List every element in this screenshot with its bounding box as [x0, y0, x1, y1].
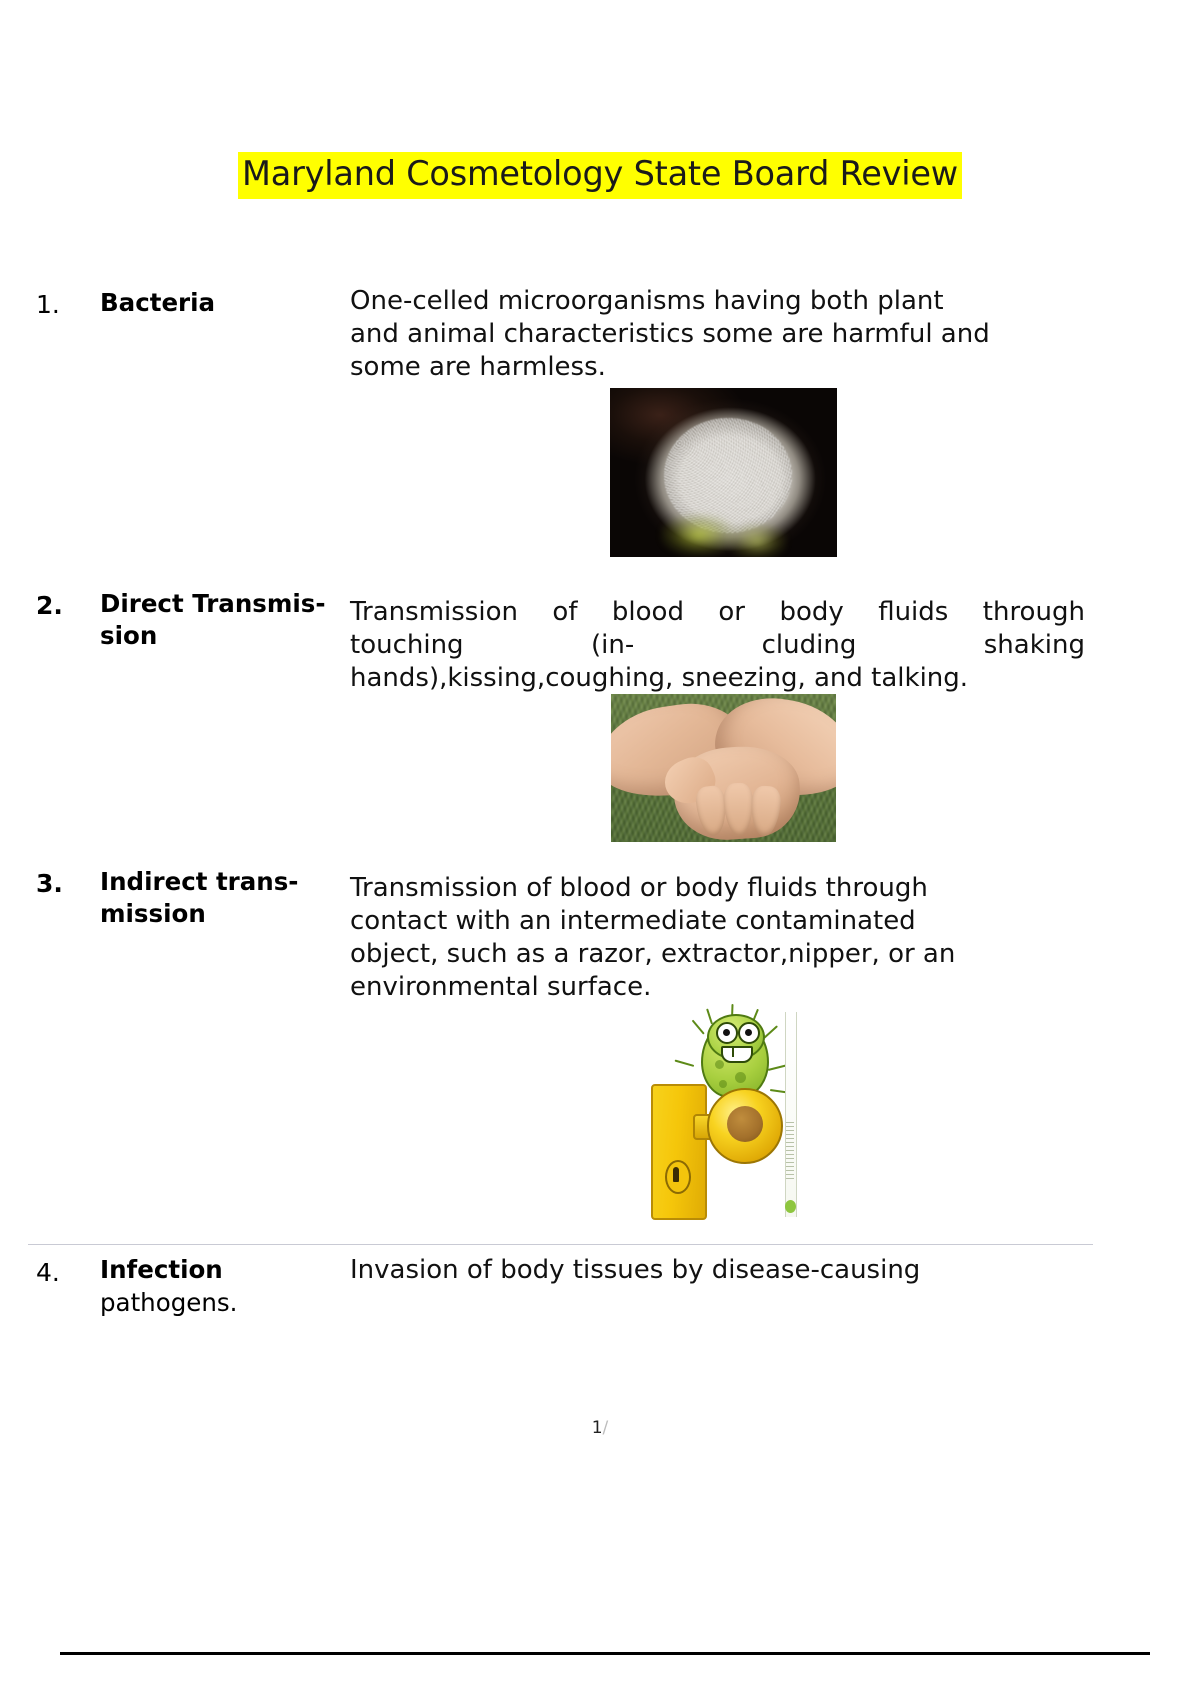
- keyhole-icon: [665, 1160, 691, 1194]
- word: cluding: [762, 629, 857, 662]
- page-footer: 1/: [0, 1418, 1200, 1438]
- entry-number-4: 4.: [36, 1257, 60, 1289]
- word: or: [718, 596, 745, 629]
- bacteria-colony-photo: [610, 388, 837, 557]
- photo-highlight: [660, 513, 737, 557]
- word: fluids: [878, 596, 948, 629]
- handshake-photo: [611, 694, 836, 842]
- entry-term-line: mission: [100, 898, 350, 930]
- definition-line-justified: touching (in- cluding shaking: [350, 629, 1085, 662]
- germ-spot: [719, 1080, 727, 1088]
- germ-eye-right: [738, 1022, 760, 1044]
- word: body: [779, 596, 843, 629]
- definition-line: some are harmless.: [350, 351, 1085, 384]
- bottom-rule: [60, 1652, 1150, 1655]
- door-plate: [651, 1084, 707, 1220]
- germ-cilium: [706, 1008, 713, 1024]
- germ-mouth: [721, 1046, 753, 1063]
- definition-line-justified: Transmission of blood or body fluids thr…: [350, 596, 1085, 629]
- germ-cilium: [674, 1060, 694, 1067]
- definition-line: and animal characteristics some are harm…: [350, 318, 1085, 351]
- definition-line: contact with an intermediate contaminate…: [350, 905, 1085, 938]
- page-separator: /: [603, 1418, 609, 1438]
- definition-line: hands),kissing,coughing, sneezing, and t…: [350, 662, 1085, 695]
- entry-definition-3: Transmission of blood or body fluids thr…: [350, 872, 1085, 1004]
- definition-line: Invasion of body tissues by disease-caus…: [350, 1254, 1085, 1287]
- word: blood: [612, 596, 684, 629]
- entry-term-2: Direct Transmis- sion: [100, 588, 350, 652]
- germ-spot: [715, 1060, 724, 1069]
- word: touching: [350, 629, 464, 662]
- doorknob-center: [727, 1106, 763, 1142]
- image-side-ticks: [786, 1122, 794, 1182]
- entry-number-2: 2.: [36, 590, 63, 622]
- word: Transmission: [350, 596, 518, 629]
- word: through: [983, 596, 1085, 629]
- entry-definition-2: Transmission of blood or body fluids thr…: [350, 596, 1085, 695]
- entry-number-1: 1.: [36, 289, 60, 321]
- entry-term-4-continuation: pathogens.: [100, 1287, 350, 1319]
- germ-cilium: [763, 1025, 778, 1039]
- germ-spot: [735, 1072, 746, 1083]
- entry-term-1: Bacteria: [100, 287, 350, 319]
- entry-definition-4: Invasion of body tissues by disease-caus…: [350, 1254, 1085, 1287]
- entry-term-4: Infection: [100, 1254, 350, 1286]
- entry-term-line: sion: [100, 620, 350, 652]
- definition-line: One-celled microorganisms having both pl…: [350, 285, 1085, 318]
- definition-line: environmental surface.: [350, 971, 1085, 1004]
- germ-eye-left: [716, 1022, 738, 1044]
- word: shaking: [984, 629, 1085, 662]
- entry-term-3: Indirect trans- mission: [100, 866, 350, 930]
- row-divider: [28, 1244, 1093, 1245]
- entry-term-line: Direct Transmis-: [100, 588, 350, 620]
- entry-term-line: Indirect trans-: [100, 866, 350, 898]
- definition-line: object, such as a razor, extractor,nippe…: [350, 938, 1085, 971]
- definition-line: Transmission of blood or body fluids thr…: [350, 872, 1085, 905]
- page-title: Maryland Cosmetology State Board Review: [0, 152, 1200, 199]
- entry-number-3: 3.: [36, 868, 63, 900]
- word: of: [552, 596, 577, 629]
- word: (in-: [591, 629, 634, 662]
- image-side-dot: [785, 1200, 796, 1213]
- page-title-text: Maryland Cosmetology State Board Review: [238, 152, 962, 199]
- germ-cilium: [692, 1020, 705, 1035]
- entry-definition-1: One-celled microorganisms having both pl…: [350, 285, 1085, 384]
- germ-doorknob-cartoon: [645, 1002, 805, 1224]
- document-page: Maryland Cosmetology State Board Review …: [0, 0, 1200, 1700]
- image-side-strip: [785, 1012, 797, 1217]
- page-number: 1: [592, 1418, 603, 1438]
- photo-highlight: [728, 523, 787, 557]
